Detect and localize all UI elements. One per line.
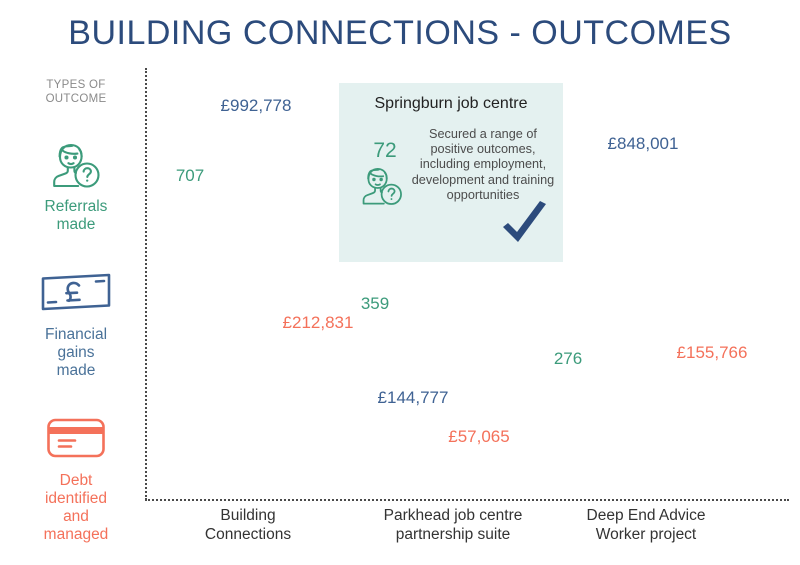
stack-label-people-1: 707 [130,166,250,186]
legend-title-line2: OUTCOME [14,92,138,106]
page-title: BUILDING CONNECTIONS - OUTCOMES [0,14,800,53]
legend-title-line1: TYPES OF [14,78,138,92]
legend-label-financial-line1: Financial [14,326,138,344]
category-caption-1-line2: Connections [150,525,346,544]
category-caption-3-line2: Worker project [548,525,744,544]
stack-label-debt-2: £57,065 [419,427,539,447]
legend-label-debt-line3: and [14,508,138,526]
legend-label-financial-line2: gains [14,344,138,362]
callout-title: Springburn job centre [339,95,563,113]
category-caption-2: Parkhead job centre partnership suite [348,506,558,544]
legend-label-debt-line4: managed [14,526,138,544]
legend: TYPES OF OUTCOME Referrals [14,78,138,544]
legend-label-debt: Debt identified and managed [14,472,138,544]
category-caption-1-line1: Building [150,506,346,525]
person-question-icon [359,163,405,212]
person-question-icon [14,136,138,192]
stack-label-money-1: £992,778 [196,96,316,116]
category-caption-3: Deep End Advice Worker project [548,506,744,544]
legend-label-financial-line3: made [14,362,138,380]
stack-label-people-3: 276 [508,349,628,369]
legend-label-financial: Financial gains made [14,326,138,380]
stack-label-money-3: £848,001 [583,134,703,154]
check-mark-icon [499,201,551,254]
vertical-divider [145,68,147,500]
stack-label-debt-1: £212,831 [258,313,378,333]
callout-body: Secured a range of positive outcomes, in… [411,127,555,203]
legend-label-debt-line1: Debt [14,472,138,490]
legend-title: TYPES OF OUTCOME [14,78,138,106]
callout-springburn: Springburn job centre 72 Secured a range… [339,83,563,262]
credit-card-icon [14,410,138,466]
legend-item-financial: Financial gains made [14,264,138,380]
category-caption-1: Building Connections [150,506,346,544]
stack-label-debt-3: £155,766 [652,343,772,363]
infographic-canvas: BUILDING CONNECTIONS - OUTCOMES TYPES OF… [0,0,800,565]
stack-label-people-2: 359 [315,294,435,314]
category-caption-2-line1: Parkhead job centre [348,506,558,525]
legend-item-debt: Debt identified and managed [14,410,138,544]
legend-label-debt-line2: identified [14,490,138,508]
legend-item-referrals: Referrals made [14,136,138,234]
callout-number: 72 [361,139,409,163]
stack-label-money-2: £144,777 [353,388,473,408]
category-caption-3-line1: Deep End Advice [548,506,744,525]
legend-label-referrals-line1: Referrals [14,198,138,216]
legend-label-referrals-line2: made [14,216,138,234]
banknote-pound-icon [14,264,138,320]
legend-label-referrals: Referrals made [14,198,138,234]
horizontal-divider [145,499,789,501]
category-caption-2-line2: partnership suite [348,525,558,544]
